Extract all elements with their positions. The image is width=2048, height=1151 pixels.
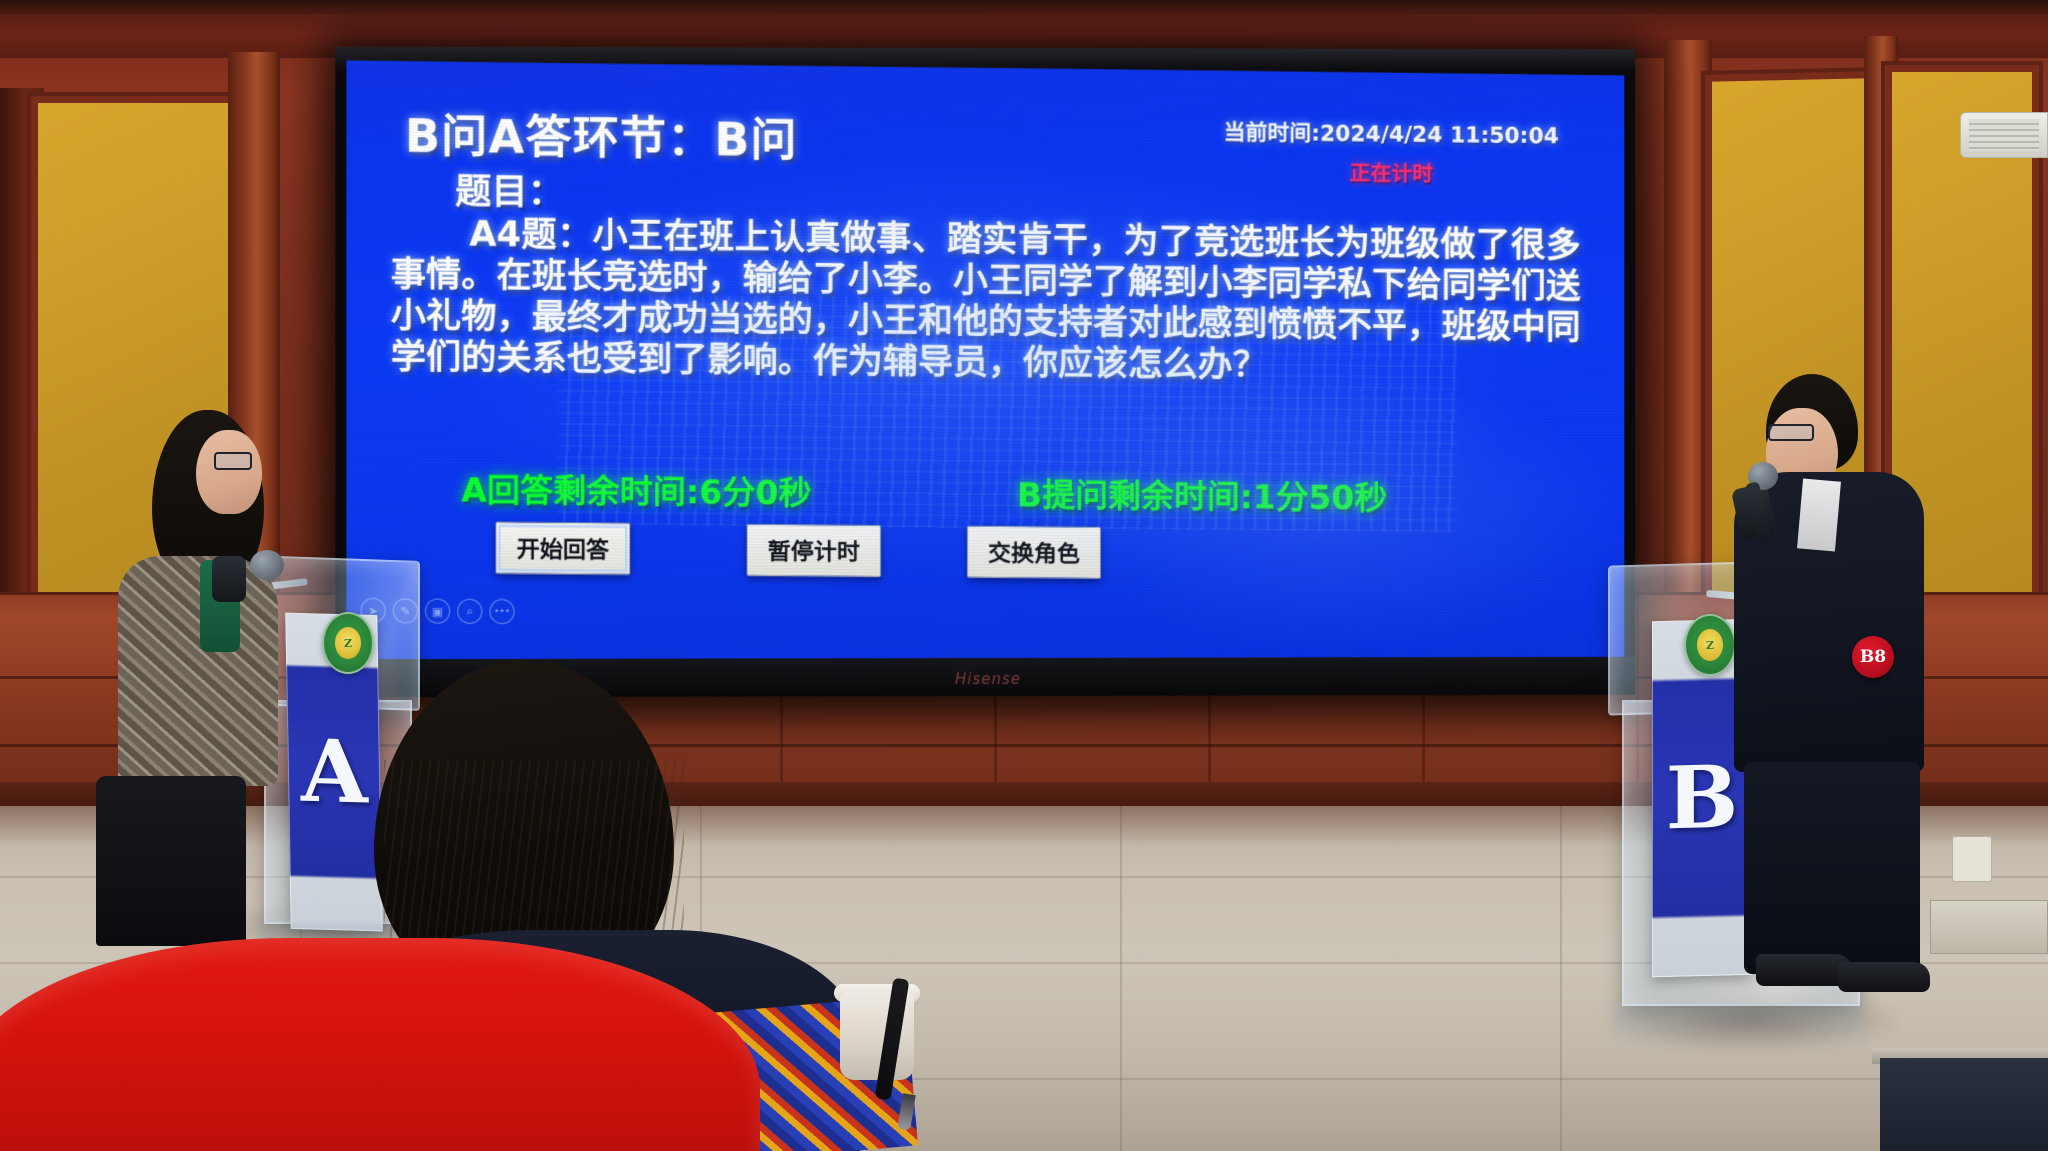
contestant-b-shirt [1797,478,1841,551]
contestant-b-trousers [1744,762,1920,974]
contestant-a-trousers [96,776,246,946]
contestant-a-glasses [214,452,252,470]
quiz-slide: B问A答环节：B问 当前时间:2024/4/24 11:50:04 正在计时 题… [346,61,1624,669]
timer-b-remaining: B提问剩余时间:1分50秒 [1017,468,1387,519]
podium-b-emblem-inner: Z [1697,629,1724,662]
podium-a-emblem: Z [322,612,374,674]
contestant-a-face [196,430,262,514]
ceiling-edge [0,0,2048,14]
podium-b-emblem: Z [1684,614,1736,676]
slide-title: B问A答环节：B问 [405,99,798,170]
contestant-a-jacket [118,556,278,786]
podium-a-letter: A [288,720,380,824]
wall-outlet[interactable] [1952,836,1992,882]
contestant-a-microphone [250,550,284,580]
pause-timer-button[interactable]: 暂停计时 [747,524,881,577]
contestant-b-shoe-right [1838,962,1930,992]
air-conditioner [1960,112,2048,158]
current-time-label: 当前时间:2024/4/24 11:50:04 [1223,115,1558,151]
camera-icon[interactable]: ▣ [425,598,450,623]
wall-pillar-right-inner [1664,40,1712,615]
timer-a-remaining: A回答剩余时间:6分0秒 [461,463,811,514]
podium-a-emblem-inner: Z [335,627,362,660]
slide-button-row: 开始回答 暂停计时 交换角色 [346,520,1624,591]
contestant-b-glasses [1768,424,1814,441]
question-text: A4题：小王在班上认真做事、踏实肯干，为了竞选班长为班级做了很多事情。在班长竞选… [391,215,1581,386]
lecture-hall-scene: B问A答环节：B问 当前时间:2024/4/24 11:50:04 正在计时 题… [0,0,2048,1151]
question-prompt-label: 题目： [455,162,564,215]
swap-roles-button[interactable]: 交换角色 [967,526,1101,579]
presentation-display: B问A答环节：B问 当前时间:2024/4/24 11:50:04 正在计时 题… [335,47,1635,698]
contestant-a-hand [212,556,246,602]
timer-row: A回答剩余时间:6分0秒 B提问剩余时间:1分50秒 [346,462,1624,473]
clock-area: 当前时间:2024/4/24 11:50:04 正在计时 [1223,115,1558,190]
magnifier-icon[interactable]: ⌕ [457,599,482,624]
side-desk [1880,1058,2048,1151]
wall-access-panel [1930,900,2048,954]
tv-brand-logo: Hisense [955,670,1021,688]
timer-status-badge: 正在计时 [1223,156,1558,190]
slide-screen: B问A答环节：B问 当前时间:2024/4/24 11:50:04 正在计时 题… [346,61,1624,669]
contestant-b-badge: B8 [1852,636,1894,678]
question-text-block: A4题：小王在班上认真做事、踏实肯干，为了竞选班长为班级做了很多事情。在班长竞选… [391,214,1581,390]
start-answer-button[interactable]: 开始回答 [495,522,630,575]
more-icon[interactable]: ••• [489,599,514,624]
